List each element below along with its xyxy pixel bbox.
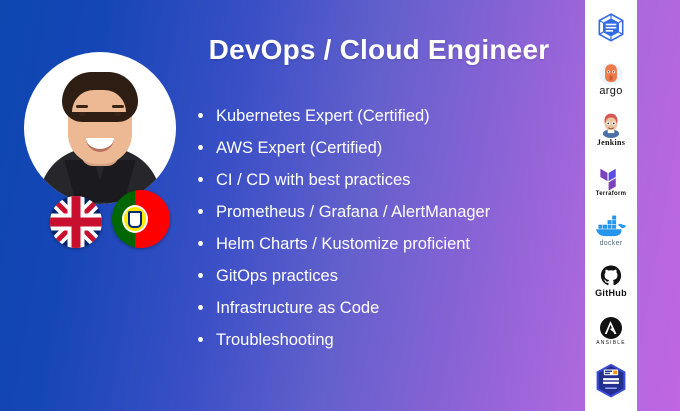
- list-item: Helm Charts / Kustomize proficient: [196, 228, 576, 260]
- skill-label: AWS Expert (Certified): [216, 139, 382, 157]
- terraform-logo-icon: Terraform: [588, 158, 634, 202]
- avatar: [24, 52, 176, 204]
- uk-cross-red-v: [72, 196, 81, 248]
- kubernetes-certified-badge-icon: [588, 7, 634, 51]
- list-item: AWS Expert (Certified): [196, 132, 576, 164]
- skill-label: Infrastructure as Code: [216, 299, 379, 317]
- skill-label: Kubernetes Expert (Certified): [216, 107, 430, 125]
- aws-solutions-architect-badge-icon: [588, 360, 634, 404]
- logo-caption: argo: [599, 86, 622, 97]
- bullet-dot-icon: [198, 337, 203, 342]
- bullet-dot-icon: [198, 273, 203, 278]
- list-item: Kubernetes Expert (Certified): [196, 100, 576, 132]
- pt-flag-armillary-shield: [122, 205, 148, 233]
- united-kingdom-flag-icon: [50, 196, 102, 248]
- profile-banner: DevOps / Cloud Engineer Kubernetes Exper…: [0, 0, 680, 411]
- bullet-dot-icon: [198, 241, 203, 246]
- bullet-dot-icon: [198, 113, 203, 118]
- technology-logo-rail: argo Jenkins Terraform: [585, 0, 637, 411]
- list-item: Infrastructure as Code: [196, 292, 576, 324]
- bullet-dot-icon: [198, 145, 203, 150]
- logo-caption: GitHub: [595, 289, 627, 298]
- logo-caption: docker: [600, 240, 623, 247]
- skill-label: Helm Charts / Kustomize proficient: [216, 235, 470, 253]
- jenkins-logo-icon: Jenkins: [588, 108, 634, 152]
- skill-label: CI / CD with best practices: [216, 171, 410, 189]
- bullet-dot-icon: [198, 209, 203, 214]
- skills-list: Kubernetes Expert (Certified) AWS Expert…: [196, 100, 576, 356]
- list-item: GitOps practices: [196, 260, 576, 292]
- skill-label: GitOps practices: [216, 267, 338, 285]
- bullet-dot-icon: [198, 177, 203, 182]
- ansible-logo-icon: ANSIBLE: [588, 309, 634, 353]
- list-item: Troubleshooting: [196, 324, 576, 356]
- github-logo-icon: GitHub: [588, 259, 634, 303]
- photo-brow-left: [76, 105, 88, 108]
- photo-eye-left: [79, 112, 86, 116]
- logo-caption: Terraform: [596, 191, 627, 197]
- portugal-flag-icon: [112, 190, 170, 248]
- photo-brow-right: [112, 105, 124, 108]
- profile-photo: [24, 52, 176, 204]
- bullet-dot-icon: [198, 305, 203, 310]
- argo-logo-icon: argo: [588, 58, 634, 102]
- list-item: CI / CD with best practices: [196, 164, 576, 196]
- photo-hair: [62, 72, 138, 122]
- skill-label: Troubleshooting: [216, 331, 334, 349]
- page-title: DevOps / Cloud Engineer: [186, 34, 572, 66]
- skill-label: Prometheus / Grafana / AlertManager: [216, 203, 490, 221]
- docker-logo-icon: docker: [588, 209, 634, 253]
- photo-eye-right: [114, 112, 121, 116]
- logo-caption: Jenkins: [597, 139, 625, 147]
- list-item: Prometheus / Grafana / AlertManager: [196, 196, 576, 228]
- logo-caption: ANSIBLE: [596, 341, 626, 346]
